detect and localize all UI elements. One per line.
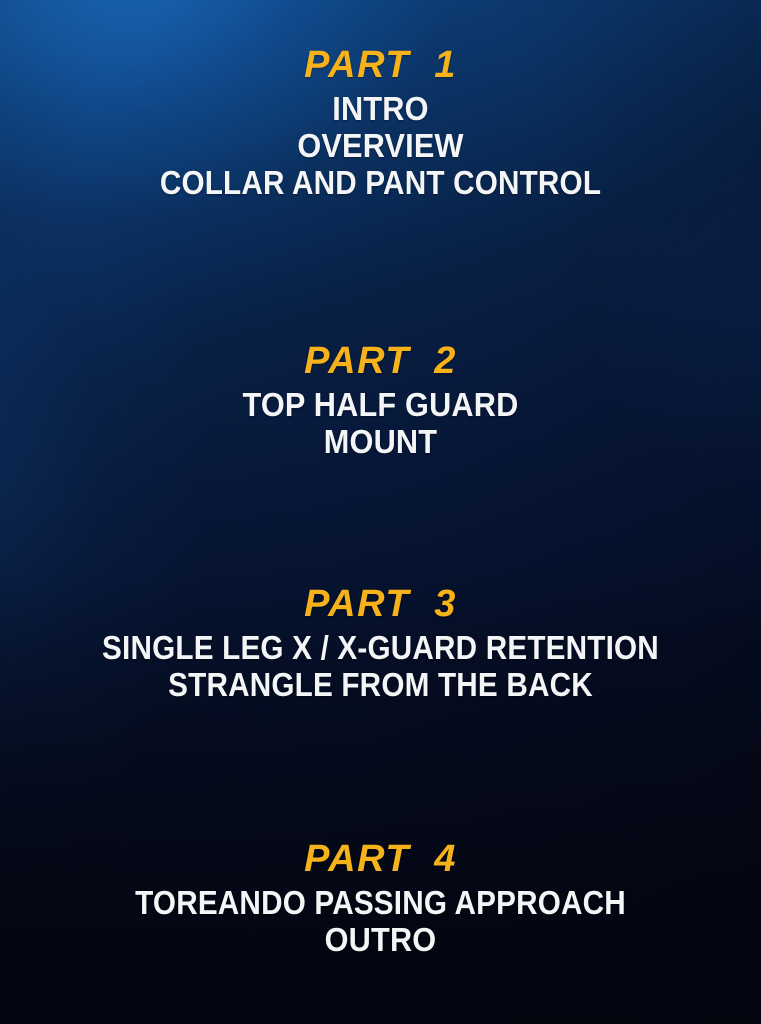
poster-content: PART 1 INTRO OVERVIEW COLLAR AND PANT CO… — [0, 0, 761, 1024]
part-section-2: PART 2 TOP HALF GUARD MOUNT — [0, 340, 761, 460]
part-1-heading: PART 1 — [0, 44, 761, 86]
part-section-3: PART 3 SINGLE LEG X / X-GUARD RETENTION … — [0, 583, 761, 703]
curriculum-poster: PART 1 INTRO OVERVIEW COLLAR AND PANT CO… — [0, 0, 761, 1024]
part-1-line-1: INTRO — [27, 90, 735, 127]
part-1-line-3: COLLAR AND PANT CONTROL — [38, 164, 723, 201]
part-2-line-2: MOUNT — [27, 423, 735, 460]
part-4-heading: PART 4 — [0, 838, 761, 880]
part-section-1: PART 1 INTRO OVERVIEW COLLAR AND PANT CO… — [0, 44, 761, 201]
part-4-line-1: TOREANDO PASSING APPROACH — [38, 884, 723, 921]
part-3-line-2: STRANGLE FROM THE BACK — [38, 666, 723, 703]
part-3-line-1: SINGLE LEG X / X-GUARD RETENTION — [38, 629, 723, 666]
part-1-line-2: OVERVIEW — [27, 127, 735, 164]
part-3-heading: PART 3 — [0, 583, 761, 625]
part-2-line-1: TOP HALF GUARD — [27, 386, 735, 423]
part-section-4: PART 4 TOREANDO PASSING APPROACH OUTRO — [0, 838, 761, 958]
part-2-heading: PART 2 — [0, 340, 761, 382]
part-4-line-2: OUTRO — [27, 921, 735, 958]
